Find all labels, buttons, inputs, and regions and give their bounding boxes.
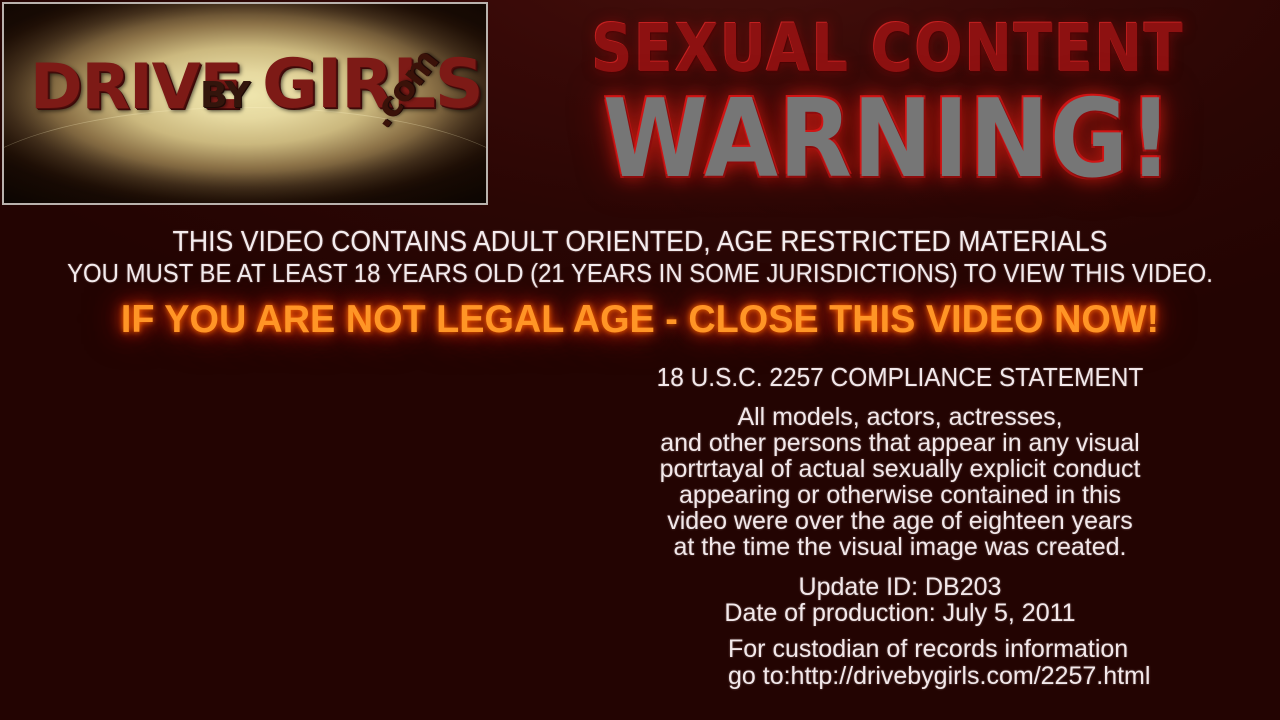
logo-wordmark: DRIVE BY GIRLS .com [4,4,486,203]
compliance-body: All models, actors, actresses, and other… [600,404,1200,560]
compliance-body-line: video were over the age of eighteen year… [600,508,1200,534]
notice-line-age-requirement: YOU MUST BE AT LEAST 18 YEARS OLD (21 YE… [51,260,1229,286]
headline-sexual-content: SEXUAL CONTENT [551,16,1225,82]
compliance-body-line: portrtayal of actual sexually explicit c… [600,456,1200,482]
compliance-body-line: at the time the visual image was created… [600,534,1200,560]
compliance-statement-block: 18 U.S.C. 2257 COMPLIANCE STATEMENT All … [600,364,1200,560]
compliance-body-line: All models, actors, actresses, [600,404,1200,430]
custodian-info-label: For custodian of records information [728,636,1248,663]
production-meta-block: Update ID: DB203 Date of production: Jul… [600,574,1200,626]
compliance-body-line: appearing or otherwise contained in this [600,482,1200,508]
update-id-text: Update ID: DB203 [600,574,1200,600]
compliance-body-line: and other persons that appear in any vis… [600,430,1200,456]
logo-word-by: BY [200,78,250,114]
warning-screen: DRIVE BY GIRLS .com SEXUAL CONTENT WARNI… [0,0,1280,720]
notice-line-adult-content: THIS VIDEO CONTAINS ADULT ORIENTED, AGE … [51,228,1229,257]
custodian-of-records-block: For custodian of records information go … [728,636,1248,690]
alert-close-video: IF YOU ARE NOT LEGAL AGE - CLOSE THIS VI… [19,300,1261,339]
brand-logo-panel: DRIVE BY GIRLS .com [2,2,488,205]
compliance-heading: 18 U.S.C. 2257 COMPLIANCE STATEMENT [618,364,1182,390]
headline-block: SEXUAL CONTENT WARNING! [496,0,1280,208]
custodian-records-url[interactable]: go to:http://drivebygirls.com/2257.html [728,663,1248,690]
production-date-text: Date of production: July 5, 2011 [600,600,1200,626]
headline-warning: WARNING! [543,86,1233,194]
